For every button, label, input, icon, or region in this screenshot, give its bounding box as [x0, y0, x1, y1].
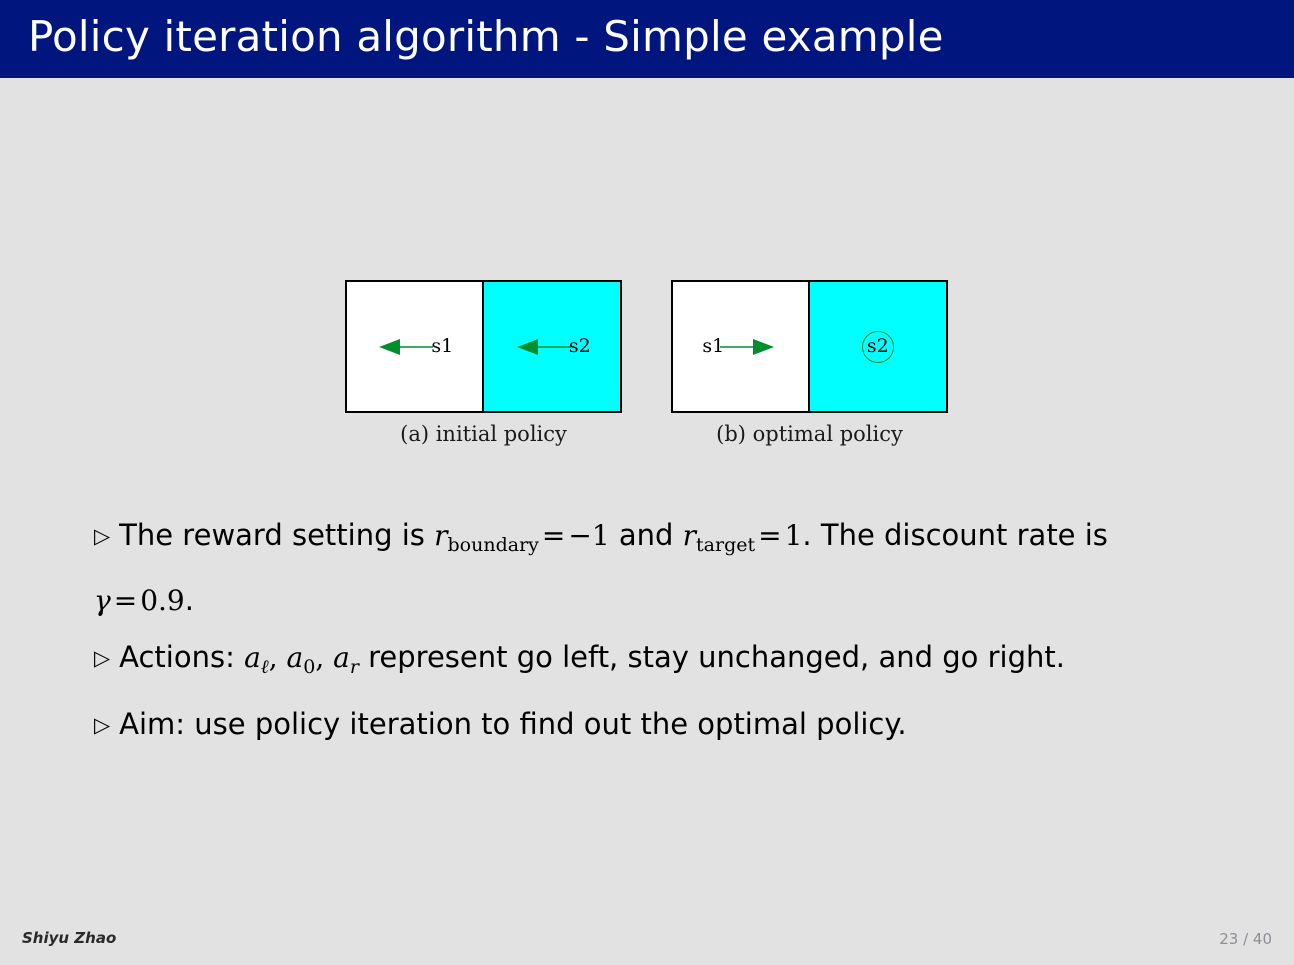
arrow-left-icon — [513, 336, 575, 358]
page-title: Policy iteration algorithm - Simple exam… — [28, 9, 944, 65]
bullet-marker: ▷ — [94, 713, 110, 737]
state-label-s1: s1 — [702, 337, 724, 356]
figure-caption-a: (a) initial policy — [345, 422, 622, 446]
policy-arrow-a-s1: s1 — [375, 336, 453, 358]
grid-cell-a-s1: s1 — [347, 282, 484, 411]
policy-stay-b-s2: s2 — [862, 331, 894, 363]
grid-cell-b-s1: s1 — [673, 282, 810, 411]
figure-optimal-policy: s1 s2 — [671, 280, 948, 413]
state-label-s2: s2 — [569, 337, 591, 356]
policy-arrow-b-s1: s1 — [702, 336, 778, 358]
policy-arrow-a-s2: s2 — [513, 336, 591, 358]
slide-content: s1 s2 (a — [0, 78, 1294, 918]
bullet-marker: ▷ — [94, 524, 110, 548]
figure-initial-policy: s1 s2 (a — [345, 280, 622, 413]
arrow-left-icon — [375, 336, 437, 358]
grid-cell-b-s2: s2 — [810, 282, 947, 411]
bullet-text: The reward setting is rboundary=−1 and r… — [94, 518, 1108, 617]
state-label-s1: s1 — [431, 337, 453, 356]
arrow-right-icon — [716, 336, 778, 358]
state-label-s2: s2 — [867, 337, 889, 356]
grid-world-b: s1 s2 — [671, 280, 948, 413]
figure-group: s1 s2 (a — [0, 78, 1294, 478]
slide-footer: Shiyu Zhao 23 / 40 — [0, 918, 1294, 965]
bullet-text: Actions: aℓ, a0, ar represent go left, s… — [119, 640, 1065, 674]
slide-title-bar: Policy iteration algorithm - Simple exam… — [0, 0, 1294, 78]
bullet-text: Aim: use policy iteration to find out th… — [119, 707, 906, 741]
bullet-item: ▷The reward setting is rboundary=−1 and … — [94, 508, 1204, 628]
bullet-item: ▷Aim: use policy iteration to find out t… — [94, 697, 1204, 753]
grid-cell-a-s2: s2 — [484, 282, 621, 411]
bullet-marker: ▷ — [94, 646, 110, 670]
bullet-list: ▷The reward setting is rboundary=−1 and … — [94, 508, 1204, 755]
footer-author: Shiyu Zhao — [22, 929, 116, 947]
footer-page-number: 23 / 40 — [1219, 930, 1272, 948]
grid-world-a: s1 s2 — [345, 280, 622, 413]
bullet-item: ▷Actions: aℓ, a0, ar represent go left, … — [94, 630, 1204, 695]
figure-caption-b: (b) optimal policy — [671, 422, 948, 446]
